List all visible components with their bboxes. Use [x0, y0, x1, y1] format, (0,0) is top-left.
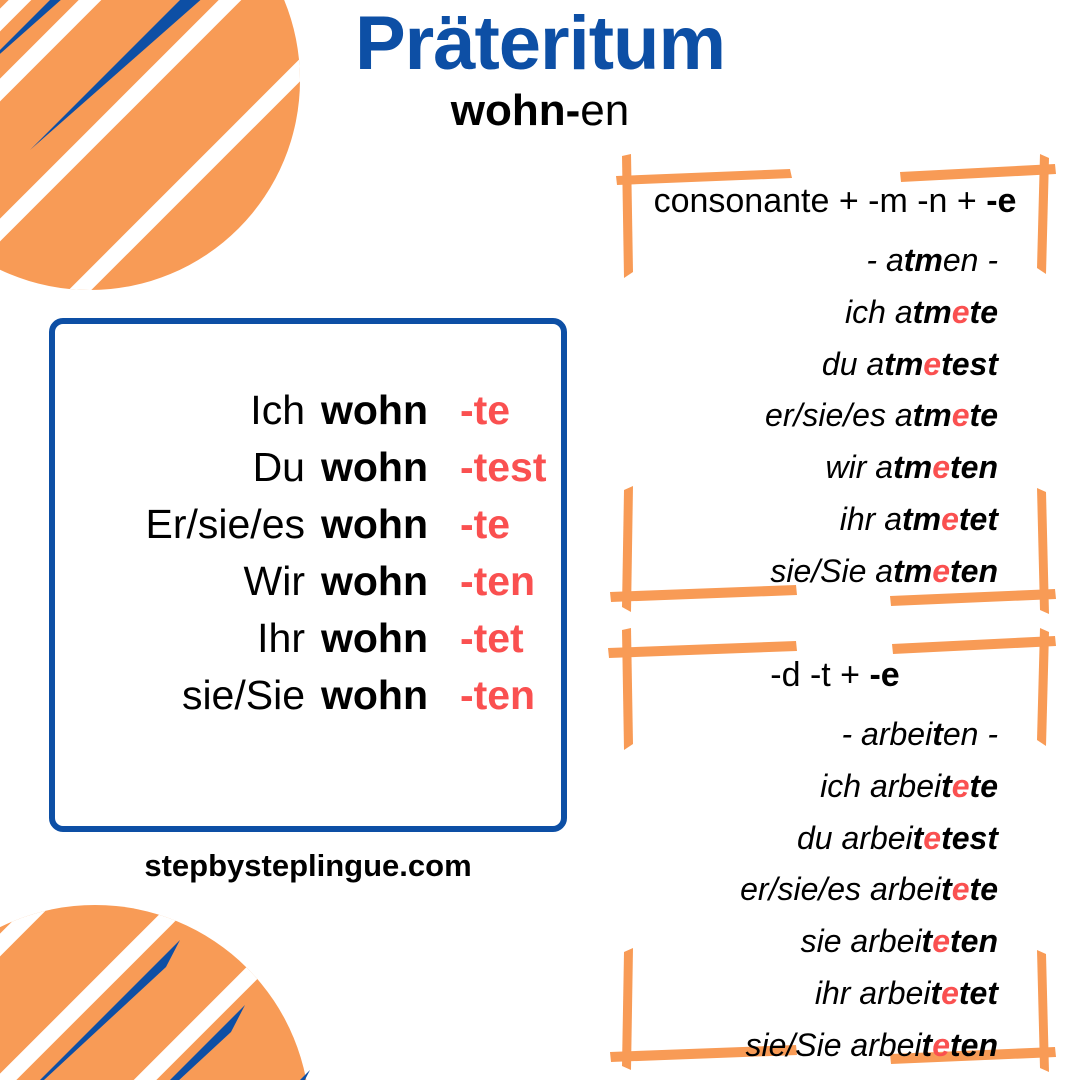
verb-stem-label: wohn- — [451, 86, 581, 135]
verb-epenthetic-e: e — [952, 768, 970, 804]
infinitive-pre: - a — [866, 242, 903, 278]
verb-stem-plain: a — [866, 346, 884, 382]
list-item: du arbeitetest — [600, 813, 998, 865]
verb-stem-plain: arbei — [841, 820, 912, 856]
list-item: ihr atmetet — [600, 494, 998, 546]
verb-list: - arbeiten - ich arbeitete du arbeitetes… — [600, 709, 1070, 1072]
verb-pronoun: du — [822, 346, 866, 382]
verb-pronoun: ich — [820, 768, 870, 804]
verb-stem-plain: arbei — [859, 975, 930, 1011]
verb-list: - atmen - ich atmete du atmetest er/sie/… — [600, 235, 1070, 598]
rule-block-consonant-mn: consonante + -m -n + -e - atmen - ich at… — [600, 152, 1070, 620]
ending-cell: -ten — [460, 553, 561, 610]
infinitive-post: en - — [943, 716, 998, 752]
pronoun-cell: Er/sie/es — [55, 496, 321, 553]
verb-pronoun: du — [797, 820, 841, 856]
verb-stem-bold: tm — [913, 294, 952, 330]
verb-stem-plain: a — [884, 501, 902, 537]
table-row: Wir wohn -ten — [55, 553, 561, 610]
verb-pronoun: er/sie/es — [765, 397, 895, 433]
verb-stem-bold: tm — [893, 449, 932, 485]
list-item: wir atmeten — [600, 442, 998, 494]
infinitive-post: en - — [943, 242, 998, 278]
verb-ending: tet — [959, 501, 998, 537]
verb-epenthetic-e: e — [923, 820, 941, 856]
verb-stem-bold: t — [930, 975, 941, 1011]
verb-stem-plain: a — [875, 449, 893, 485]
verb-ending-label: en — [580, 86, 629, 135]
verb-stem-plain: a — [895, 397, 913, 433]
list-item: er/sie/es arbeitete — [600, 864, 998, 916]
infinitive-line: - atmen - — [600, 235, 998, 287]
verb-ending: te — [970, 397, 998, 433]
site-url: stepbysteplingue.com — [49, 848, 567, 884]
ending-cell: -te — [460, 496, 561, 553]
verb-epenthetic-e: e — [932, 449, 950, 485]
rule-heading-bold: -e — [869, 656, 899, 694]
table-row: Er/sie/es wohn -te — [55, 496, 561, 553]
table-row: sie/Sie wohn -ten — [55, 667, 561, 724]
verb-ending: te — [970, 871, 998, 907]
rule-block-d-t: -d -t + -e - arbeiten - ich arbeitete du… — [600, 626, 1070, 1076]
verb-pronoun: sie — [801, 923, 851, 959]
verb-stem-bold: t — [941, 768, 952, 804]
list-item: ihr arbeitetet — [600, 968, 998, 1020]
verb-stem-plain: a — [895, 294, 913, 330]
rule-heading: -d -t + -e — [600, 626, 1070, 695]
verb-stem-bold: tm — [893, 553, 932, 589]
verb-stem-plain: arbei — [870, 871, 941, 907]
infinitive-pre: - arbei — [842, 716, 933, 752]
verb-stem-bold: t — [922, 1027, 933, 1063]
ending-cell: -test — [460, 439, 561, 496]
stem-cell: wohn — [321, 382, 460, 439]
verb-epenthetic-e: e — [941, 975, 959, 1011]
verb-stem-plain: arbei — [850, 1027, 921, 1063]
verb-stem-plain: arbei — [850, 923, 921, 959]
verb-ending: ten — [950, 923, 998, 959]
ending-cell: -tet — [460, 610, 561, 667]
verb-ending: te — [970, 294, 998, 330]
pronoun-cell: Wir — [55, 553, 321, 610]
verb-stem-bold: tm — [884, 346, 923, 382]
blue-diagonal-bars-bottom-left — [0, 940, 400, 1080]
rule-heading-bold: -e — [986, 182, 1016, 220]
pronoun-cell: sie/Sie — [55, 667, 321, 724]
verb-epenthetic-e: e — [941, 501, 959, 537]
conjugation-table: Ich wohn -te Du wohn -test Er/sie/es woh… — [55, 382, 561, 724]
table-row: Ich wohn -te — [55, 382, 561, 439]
verb-epenthetic-e: e — [932, 1027, 950, 1063]
verb-ending: test — [941, 346, 998, 382]
verb-pronoun: ihr — [815, 975, 859, 1011]
verb-pronoun: ich — [845, 294, 895, 330]
bottom-left-decoration — [0, 905, 400, 1080]
rule-heading-plain: consonante + -m -n + — [654, 182, 987, 220]
verb-stem-plain: a — [875, 553, 893, 589]
verb-stem-bold: t — [922, 923, 933, 959]
verb-epenthetic-e: e — [932, 553, 950, 589]
verb-epenthetic-e: e — [952, 871, 970, 907]
table-row: Ihr wohn -tet — [55, 610, 561, 667]
infinitive-line: - arbeiten - — [600, 709, 998, 761]
verb-ending: tet — [959, 975, 998, 1011]
list-item: ich atmete — [600, 287, 998, 339]
verb-pronoun: wir — [826, 449, 876, 485]
page-title: Präteritum — [0, 6, 1080, 82]
verb-pronoun: sie/Sie — [745, 1027, 850, 1063]
verb-subtitle: wohn-en — [0, 88, 1080, 134]
list-item: du atmetest — [600, 339, 998, 391]
list-item: ich arbeitete — [600, 761, 998, 813]
verb-pronoun: ihr — [840, 501, 884, 537]
verb-ending: test — [941, 820, 998, 856]
ending-cell: -ten — [460, 667, 561, 724]
pronoun-cell: Du — [55, 439, 321, 496]
verb-stem-plain: arbei — [870, 768, 941, 804]
verb-stem-bold: tm — [902, 501, 941, 537]
infinitive-bold: tm — [904, 242, 943, 278]
stem-cell: wohn — [321, 610, 460, 667]
list-item: sie arbeiteten — [600, 916, 998, 968]
verb-ending: ten — [950, 553, 998, 589]
header: Präteritum wohn-en — [0, 6, 1080, 134]
verb-epenthetic-e: e — [952, 397, 970, 433]
verb-ending: ten — [950, 449, 998, 485]
rule-heading-plain: -d -t + — [770, 656, 869, 694]
verb-epenthetic-e: e — [923, 346, 941, 382]
rule-heading: consonante + -m -n + -e — [600, 152, 1070, 221]
stem-cell: wohn — [321, 439, 460, 496]
pronoun-cell: Ich — [55, 382, 321, 439]
verb-stem-bold: tm — [913, 397, 952, 433]
verb-pronoun: sie/Sie — [770, 553, 875, 589]
list-item: er/sie/es atmete — [600, 390, 998, 442]
verb-ending: te — [970, 768, 998, 804]
infographic-page: Präteritum wohn-en Ich wohn -te Du wohn … — [0, 0, 1080, 1080]
stem-cell: wohn — [321, 496, 460, 553]
verb-stem-bold: t — [941, 871, 952, 907]
conjugation-table-body: Ich wohn -te Du wohn -test Er/sie/es woh… — [55, 382, 561, 724]
stem-cell: wohn — [321, 553, 460, 610]
pronoun-cell: Ihr — [55, 610, 321, 667]
conjugation-card: Ich wohn -te Du wohn -test Er/sie/es woh… — [49, 318, 567, 832]
verb-ending: ten — [950, 1027, 998, 1063]
orange-striped-circle-bottom-left — [0, 905, 400, 1080]
verb-pronoun: er/sie/es — [740, 871, 870, 907]
ending-cell: -te — [460, 382, 561, 439]
infinitive-bold: t — [932, 716, 943, 752]
table-row: Du wohn -test — [55, 439, 561, 496]
verb-epenthetic-e: e — [932, 923, 950, 959]
list-item: sie/Sie atmeten — [600, 546, 998, 598]
verb-stem-bold: t — [913, 820, 924, 856]
list-item: sie/Sie arbeiteten — [600, 1020, 998, 1072]
verb-epenthetic-e: e — [952, 294, 970, 330]
stem-cell: wohn — [321, 667, 460, 724]
